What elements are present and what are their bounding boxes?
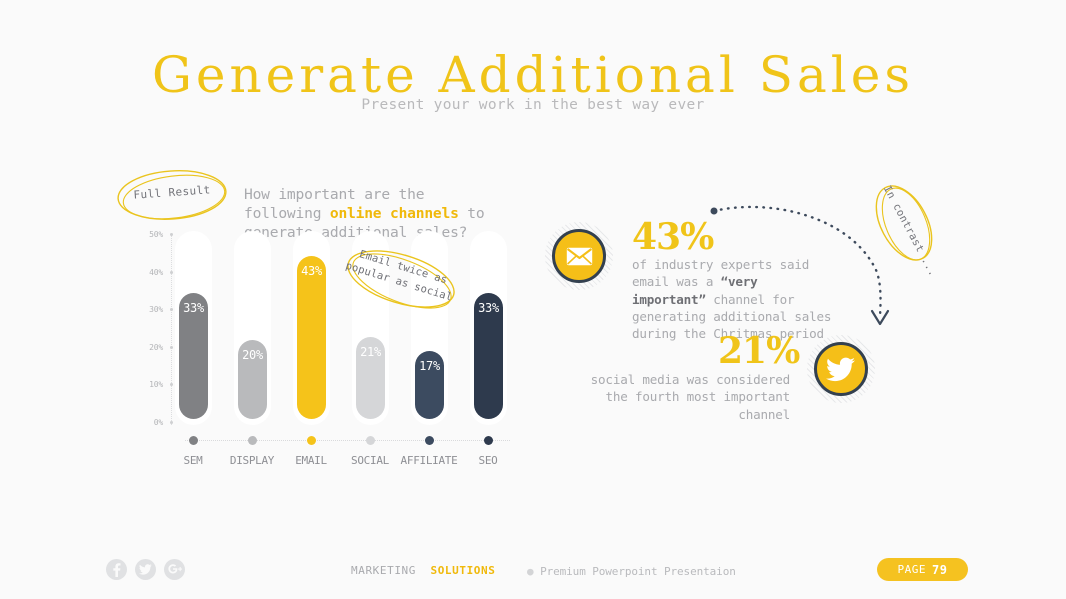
bar-fill[interactable]: 17% bbox=[415, 351, 444, 419]
footer-note-text: Premium Powerpoint Presentaion bbox=[540, 565, 736, 578]
y-tick-label: 50% bbox=[133, 230, 163, 239]
bullet-icon: ● bbox=[527, 565, 534, 578]
stat-body-21: social media was considered the fourth m… bbox=[560, 371, 790, 423]
y-tick-label: 40% bbox=[133, 268, 163, 277]
y-tick-dot bbox=[170, 271, 173, 274]
page-label: PAGE bbox=[898, 563, 927, 576]
twitter-icon-badge bbox=[807, 335, 875, 403]
email-twice-badge: Email twice as popular as social bbox=[345, 250, 457, 308]
y-tick-dot bbox=[170, 308, 173, 311]
bar-fill[interactable]: 33% bbox=[179, 293, 208, 419]
footer-brand-prefix: MARKETING bbox=[351, 564, 416, 577]
y-tick-dot bbox=[170, 233, 173, 236]
y-tick-label: 0% bbox=[133, 418, 163, 427]
stat43-line3-post: channel for bbox=[706, 292, 795, 307]
y-axis-line bbox=[171, 235, 172, 425]
category-label-seo: SEO bbox=[479, 454, 498, 467]
page-number: 79 bbox=[932, 563, 947, 577]
category-label-display: DISPLAY bbox=[230, 454, 274, 467]
category-dot[interactable] bbox=[484, 436, 493, 445]
footer-brand-strong: SOLUTIONS bbox=[430, 564, 495, 577]
category-label-sem: SEM bbox=[184, 454, 203, 467]
category-axis-line bbox=[185, 440, 510, 441]
category-dot[interactable] bbox=[366, 436, 375, 445]
stat43-line1: of industry experts said bbox=[632, 257, 809, 272]
stat-number-43: 43% bbox=[632, 216, 713, 258]
page-badge: PAGE 79 bbox=[877, 558, 968, 581]
stat21-line3: channel bbox=[738, 407, 790, 422]
y-tick-dot bbox=[170, 421, 173, 424]
social-links[interactable] bbox=[106, 559, 185, 580]
twitter-icon[interactable] bbox=[135, 559, 156, 580]
y-tick-dot bbox=[170, 383, 173, 386]
category-label-email: EMAIL bbox=[295, 454, 327, 467]
google-plus-icon[interactable] bbox=[164, 559, 185, 580]
y-tick-label: 20% bbox=[133, 343, 163, 352]
stat43-strong-1: “very bbox=[721, 274, 758, 289]
stat43-line2-pre: email was a bbox=[632, 274, 721, 289]
category-label-affiliate: AFFILIATE bbox=[401, 454, 458, 467]
in-contrast-badge: In contrast ... bbox=[866, 180, 942, 266]
bar-value-label: 17% bbox=[415, 359, 444, 373]
twitter-icon bbox=[814, 342, 868, 396]
bar-value-label: 43% bbox=[297, 264, 326, 278]
bar-fill[interactable]: 21% bbox=[356, 337, 385, 419]
full-result-badge: Full Result bbox=[116, 168, 228, 222]
category-dot[interactable] bbox=[425, 436, 434, 445]
category-dot[interactable] bbox=[307, 436, 316, 445]
bar-fill[interactable]: 43% bbox=[297, 256, 326, 419]
page-title: Generate Additional Sales bbox=[0, 46, 1066, 104]
page-subtitle: Present your work in the best way ever bbox=[0, 97, 1066, 113]
envelope-icon bbox=[552, 229, 606, 283]
email-icon-badge bbox=[545, 222, 613, 290]
stat21-line2: the fourth most important bbox=[605, 389, 790, 404]
stat21-line1: social media was considered bbox=[591, 372, 790, 387]
bar-fill[interactable]: 20% bbox=[238, 340, 267, 419]
bar-fill[interactable]: 33% bbox=[474, 293, 503, 419]
bar-value-label: 33% bbox=[179, 301, 208, 315]
y-tick-label: 10% bbox=[133, 380, 163, 389]
facebook-icon[interactable] bbox=[106, 559, 127, 580]
bar-value-label: 20% bbox=[238, 348, 267, 362]
footer-note: ● Premium Powerpoint Presentaion bbox=[527, 565, 736, 578]
y-tick-label: 30% bbox=[133, 305, 163, 314]
category-dot[interactable] bbox=[189, 436, 198, 445]
slide-canvas: Generate Additional Sales Present your w… bbox=[0, 0, 1066, 599]
bar-value-label: 21% bbox=[356, 345, 385, 359]
footer-brand: MARKETING SOLUTIONS bbox=[351, 564, 495, 577]
stat43-line4: generating additional sales bbox=[632, 309, 831, 324]
bar-value-label: 33% bbox=[474, 301, 503, 315]
y-tick-dot bbox=[170, 346, 173, 349]
category-dot[interactable] bbox=[248, 436, 257, 445]
bar-chart: 50%40%30%20%10%0% 33%SEM20%DISPLAY43%EMA… bbox=[125, 225, 520, 475]
category-label-social: SOCIAL bbox=[351, 454, 389, 467]
stat-number-21: 21% bbox=[718, 330, 799, 372]
stat43-strong-2: important” bbox=[632, 292, 706, 307]
question-highlight: online channels bbox=[330, 205, 459, 222]
